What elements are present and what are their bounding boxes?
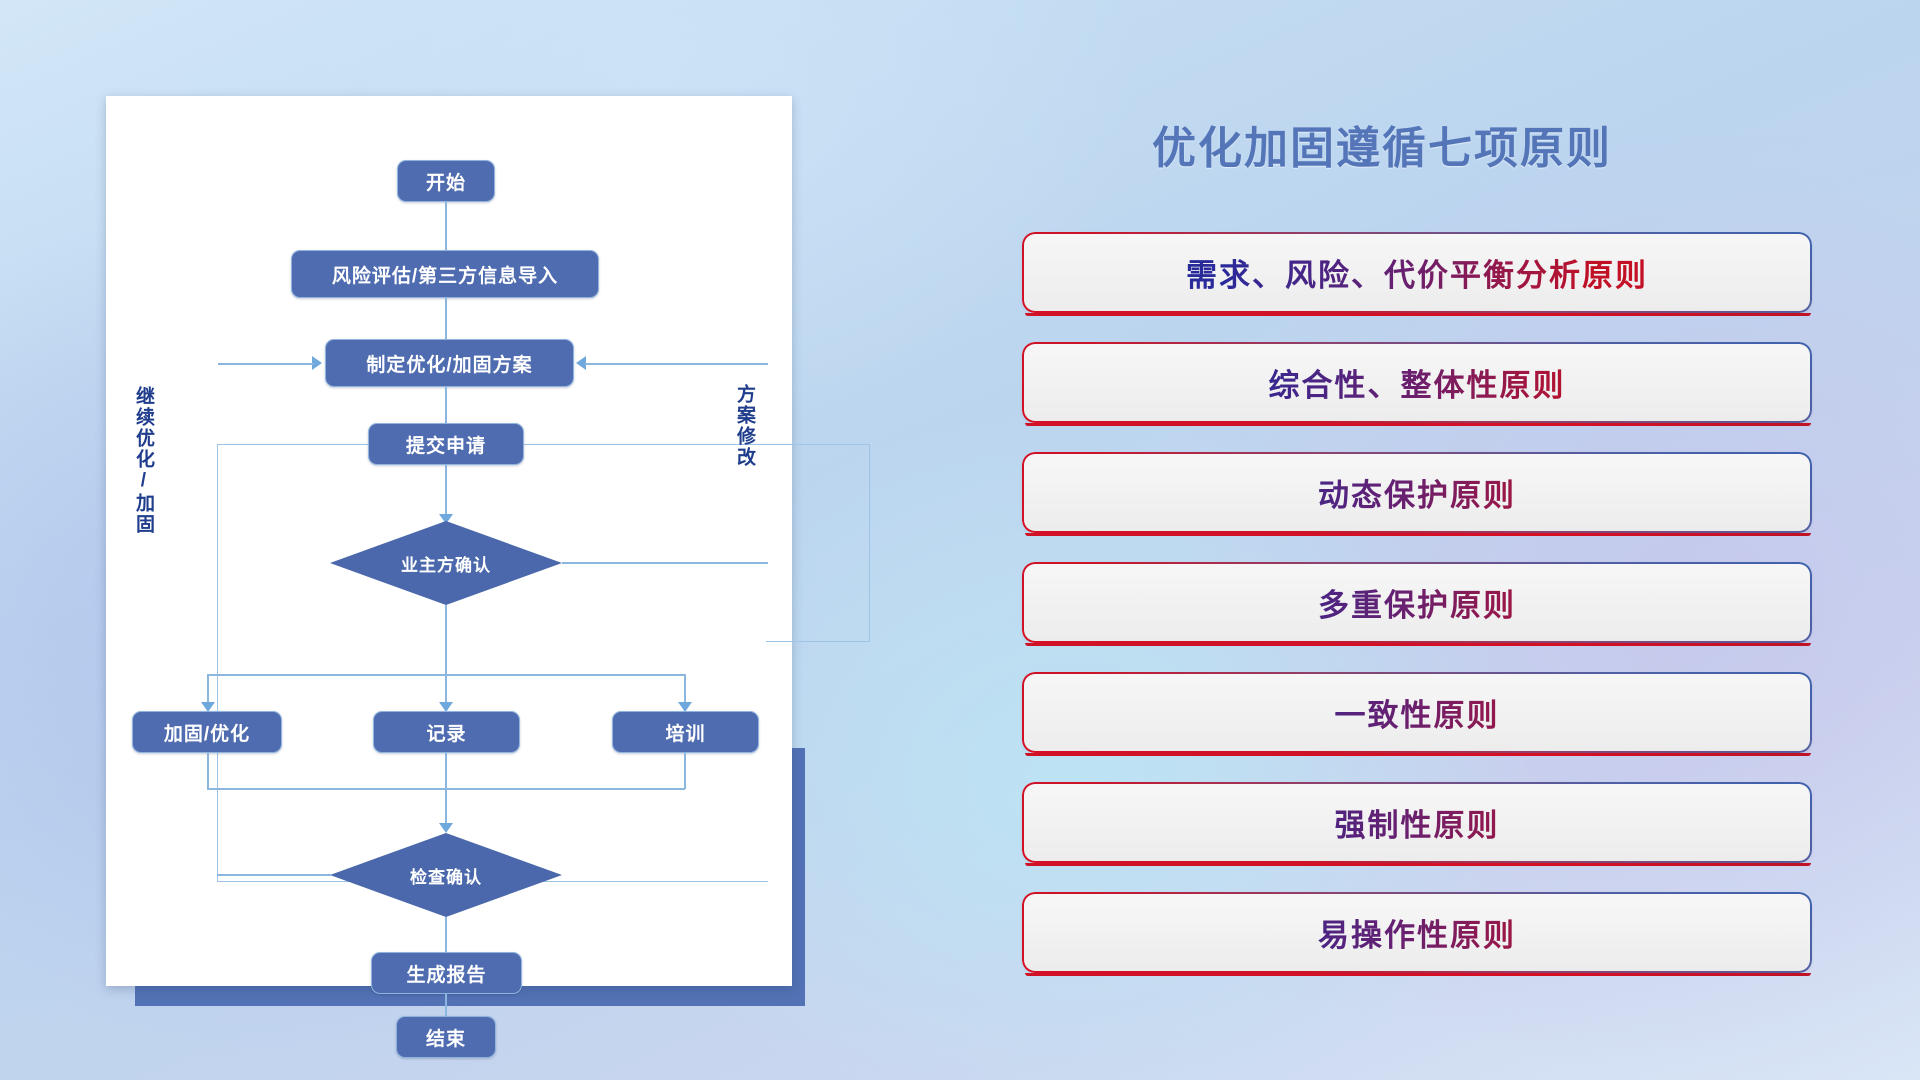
- principle-card[interactable]: 多重保护原则: [1022, 562, 1812, 643]
- flowchart-card: 开始 风险评估/第三方信息导入 制定优化/加固方案 提交申请 业主方确认 加固/…: [106, 96, 792, 986]
- flow-node-owner-confirm-label: 业主方确认: [401, 551, 491, 576]
- connector-owner-down: [445, 605, 447, 676]
- flow-node-start[interactable]: 开始: [397, 160, 495, 202]
- edge-label-plan-revision: 方案修改: [734, 384, 754, 468]
- flow-node-submit[interactable]: 提交申请: [368, 423, 524, 465]
- connector-check-to-left-loop: [217, 874, 332, 876]
- principle-card[interactable]: 强制性原则: [1022, 782, 1812, 863]
- connector-owner-to-right-loop: [562, 562, 768, 564]
- principle-card[interactable]: 需求、风险、代价平衡分析原则: [1022, 232, 1812, 313]
- flow-node-check-confirm-label: 检查确认: [410, 863, 482, 888]
- principle-label: 一致性原则: [1022, 672, 1812, 753]
- flow-node-train[interactable]: 培训: [612, 711, 759, 753]
- principle-label: 多重保护原则: [1022, 562, 1812, 643]
- principle-label: 需求、风险、代价平衡分析原则: [1022, 232, 1812, 313]
- principle-label: 强制性原则: [1022, 782, 1812, 863]
- flow-node-harden-label: 加固/优化: [164, 719, 250, 746]
- principle-label: 易操作性原则: [1022, 892, 1812, 973]
- principle-card[interactable]: 一致性原则: [1022, 672, 1812, 753]
- loop-frame-left: [217, 444, 768, 882]
- principle-label: 综合性、整体性原则: [1022, 342, 1812, 423]
- flow-node-plan-label: 制定优化/加固方案: [366, 350, 532, 377]
- connector-fanin-to-check: [445, 753, 447, 829]
- flow-node-harden[interactable]: 加固/优化: [132, 711, 282, 753]
- flow-node-plan[interactable]: 制定优化/加固方案: [325, 339, 574, 387]
- connector-loop-left-into-plan: [218, 363, 314, 365]
- flow-node-report[interactable]: 生成报告: [371, 952, 522, 994]
- arrow-fanin-to-check: [439, 823, 453, 833]
- flow-node-risk-assessment-label: 风险评估/第三方信息导入: [332, 261, 558, 288]
- flow-node-end[interactable]: 结束: [396, 1016, 496, 1058]
- flow-node-report-label: 生成报告: [406, 960, 486, 987]
- flow-node-risk-assessment[interactable]: 风险评估/第三方信息导入: [291, 250, 599, 298]
- connector-train-down: [684, 753, 686, 789]
- flow-node-submit-label: 提交申请: [406, 431, 486, 458]
- principle-card[interactable]: 易操作性原则: [1022, 892, 1812, 973]
- flow-node-record-label: 记录: [426, 719, 466, 746]
- flow-node-start-label: 开始: [426, 168, 466, 195]
- principle-label: 动态保护原则: [1022, 452, 1812, 533]
- connector-harden-down: [207, 753, 209, 789]
- connector-submit-to-owner: [445, 465, 447, 520]
- connector-loop-right-into-plan: [585, 363, 768, 365]
- flow-node-train-label: 培训: [665, 719, 705, 746]
- flow-node-record[interactable]: 记录: [373, 711, 520, 753]
- principles-list: 需求、风险、代价平衡分析原则 综合性、整体性原则 动态保护原则 多重保护原则 一…: [1022, 232, 1812, 1002]
- principle-card[interactable]: 动态保护原则: [1022, 452, 1812, 533]
- page-title: 优化加固遵循七项原则: [1152, 112, 1612, 176]
- edge-label-continue-optimize: 继续优化/加固: [133, 386, 153, 535]
- loop-frame-right: [766, 444, 870, 642]
- flow-node-end-label: 结束: [426, 1024, 466, 1051]
- principle-card[interactable]: 综合性、整体性原则: [1022, 342, 1812, 423]
